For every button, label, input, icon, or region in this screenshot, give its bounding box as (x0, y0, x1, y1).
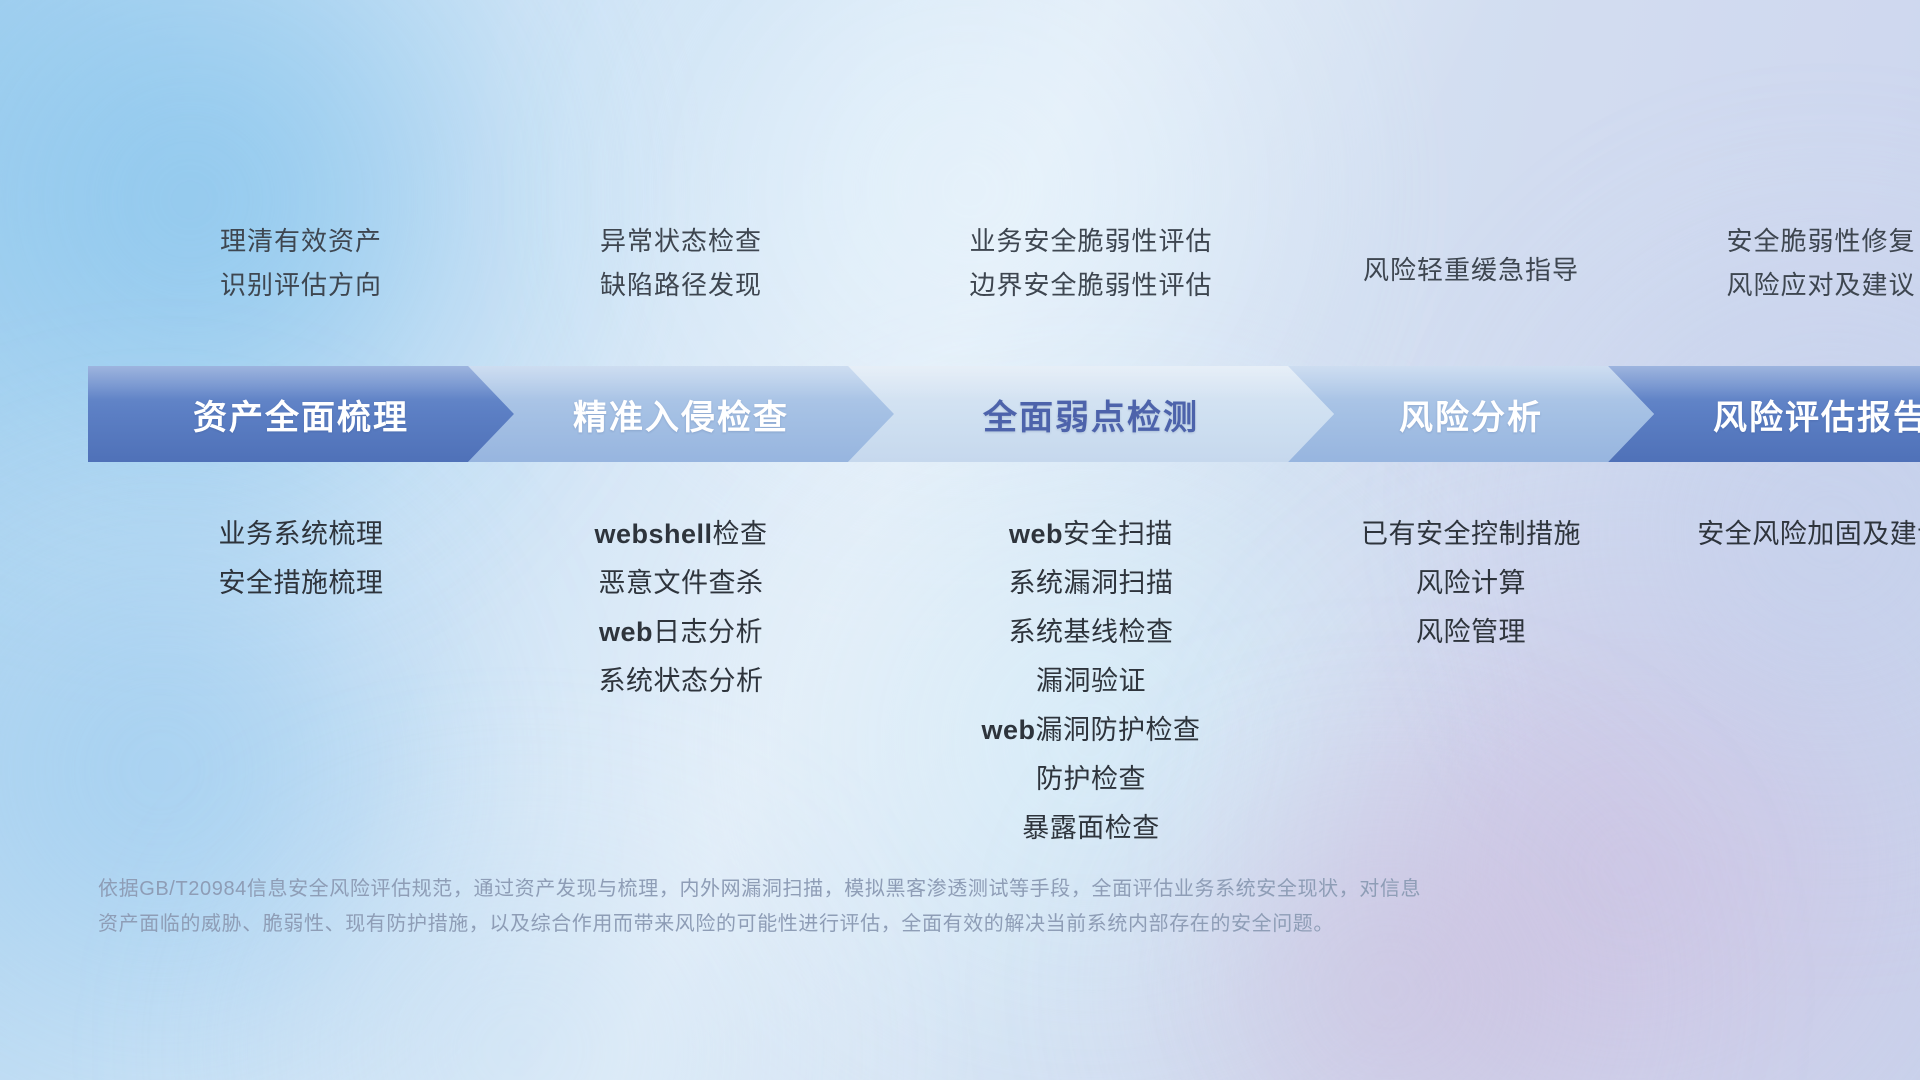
top-caption: 业务安全脆弱性评估 (969, 228, 1212, 254)
stage-item-label: 安全扫描 (1063, 519, 1173, 549)
top-caption-stack-risk-analysis: 风险轻重缓急指导 (1363, 257, 1579, 283)
top-caption: 识别评估方向 (220, 272, 382, 298)
stage-items-weakness-detection: web安全扫描系统漏洞扫描系统基线检查漏洞验证web漏洞防护检查防护检查暴露面检… (981, 510, 1200, 853)
stage-items-asset-inventory: 业务系统梳理安全措施梳理 (219, 510, 384, 608)
stage-item: 安全措施梳理 (219, 559, 384, 608)
stage-item-label: 安全措施梳理 (219, 568, 384, 598)
stage-title-asset-inventory: 资产全面梳理 (193, 390, 409, 439)
top-caption-stack-asset-inventory: 理清有效资产识别评估方向 (220, 228, 382, 298)
stage-item-label: 系统漏洞扫描 (1008, 568, 1173, 598)
stage-item: 风险管理 (1416, 608, 1526, 657)
stage-item-label: 暴露面检查 (1022, 813, 1160, 843)
stage-chevron-weakness-detection[interactable]: 全面弱点检测 (848, 366, 1334, 462)
stage-chevron-risk-analysis[interactable]: 风险分析 (1288, 366, 1654, 462)
stage-item-label: 已有安全控制措施 (1361, 519, 1581, 549)
stage-chevron-band: 资产全面梳理精准入侵检查全面弱点检测风险分析风险评估报告 (88, 366, 1848, 462)
stage-item: 业务系统梳理 (219, 510, 384, 559)
footer-line-1: 依据GB/T20984信息安全风险评估规范，通过资产发现与梳理，内外网漏洞扫描，… (98, 872, 1618, 907)
stage-item: webshell检查 (594, 510, 767, 559)
stage-item-label: 恶意文件查杀 (598, 568, 763, 598)
stage-item: web漏洞防护检查 (981, 706, 1200, 755)
stage-item: 系统基线检查 (1008, 608, 1173, 657)
stage-items-risk-report: 安全风险加固及建议 (1697, 510, 1920, 559)
stage-item-prefix: web (1009, 519, 1063, 549)
stage-item-label: 业务系统梳理 (219, 519, 384, 549)
stage-item: 暴露面检查 (1022, 804, 1160, 853)
stage-item: 防护检查 (1036, 755, 1146, 804)
stage-item-label: 检查 (713, 519, 768, 549)
stage-item-label: 风险管理 (1416, 617, 1526, 647)
stage-item: 恶意文件查杀 (598, 559, 763, 608)
top-caption: 风险应对及建议 (1726, 272, 1915, 298)
stage-item-label: 系统基线检查 (1008, 617, 1173, 647)
stage-title-risk-analysis: 风险分析 (1399, 390, 1543, 439)
stage-item: web日志分析 (599, 608, 763, 657)
stage-item: 已有安全控制措施 (1361, 510, 1581, 559)
stage-title-risk-report: 风险评估报告 (1713, 390, 1920, 439)
stage-title-intrusion-check: 精准入侵检查 (573, 390, 789, 439)
top-caption: 理清有效资产 (220, 228, 382, 254)
footer-description: 依据GB/T20984信息安全风险评估规范，通过资产发现与梳理，内外网漏洞扫描，… (98, 872, 1618, 942)
stage-item: 风险计算 (1416, 559, 1526, 608)
top-caption-stack-intrusion-check: 异常状态检查缺陷路径发现 (600, 228, 762, 298)
stage-item-prefix: web (599, 617, 653, 647)
stage-chevron-risk-report[interactable]: 风险评估报告 (1608, 366, 1920, 462)
stage-items-intrusion-check: webshell检查恶意文件查杀web日志分析系统状态分析 (594, 510, 767, 706)
top-captions-row: 理清有效资产识别评估方向异常状态检查缺陷路径发现业务安全脆弱性评估边界安全脆弱性… (0, 228, 1920, 348)
stage-chevron-asset-inventory[interactable]: 资产全面梳理 (88, 366, 514, 462)
stage-title-weakness-detection: 全面弱点检测 (983, 390, 1199, 439)
footer-line-2: 资产面临的威胁、脆弱性、现有防护措施，以及综合作用而带来风险的可能性进行评估，全… (98, 907, 1618, 942)
stage-item-prefix: webshell (594, 519, 712, 549)
top-caption: 安全脆弱性修复 (1726, 228, 1915, 254)
stage-item-label: 安全风险加固及建议 (1697, 519, 1920, 549)
top-caption: 异常状态检查 (600, 228, 762, 254)
stage-item: 系统状态分析 (598, 657, 763, 706)
stage-item-label: 风险计算 (1416, 568, 1526, 598)
stage-items-risk-analysis: 已有安全控制措施风险计算风险管理 (1361, 510, 1581, 657)
stage-item: web安全扫描 (1009, 510, 1173, 559)
stage-item: 安全风险加固及建议 (1697, 510, 1920, 559)
stage-item-label: 日志分析 (653, 617, 763, 647)
stage-item-label: 漏洞验证 (1036, 666, 1146, 696)
top-caption: 缺陷路径发现 (600, 272, 762, 298)
stage-item-label: 漏洞防护检查 (1036, 715, 1201, 745)
process-diagram: 理清有效资产识别评估方向异常状态检查缺陷路径发现业务安全脆弱性评估边界安全脆弱性… (0, 0, 1920, 1080)
stage-item-prefix: web (981, 715, 1035, 745)
stage-item: 漏洞验证 (1036, 657, 1146, 706)
stage-chevron-intrusion-check[interactable]: 精准入侵检查 (468, 366, 894, 462)
top-caption-stack-risk-report: 安全脆弱性修复风险应对及建议 (1726, 228, 1915, 298)
stage-item-label: 防护检查 (1036, 764, 1146, 794)
stage-item: 系统漏洞扫描 (1008, 559, 1173, 608)
top-caption-stack-weakness-detection: 业务安全脆弱性评估边界安全脆弱性评估 (969, 228, 1212, 298)
stage-item-label: 系统状态分析 (598, 666, 763, 696)
top-caption: 边界安全脆弱性评估 (969, 272, 1212, 298)
top-caption: 风险轻重缓急指导 (1363, 257, 1579, 283)
